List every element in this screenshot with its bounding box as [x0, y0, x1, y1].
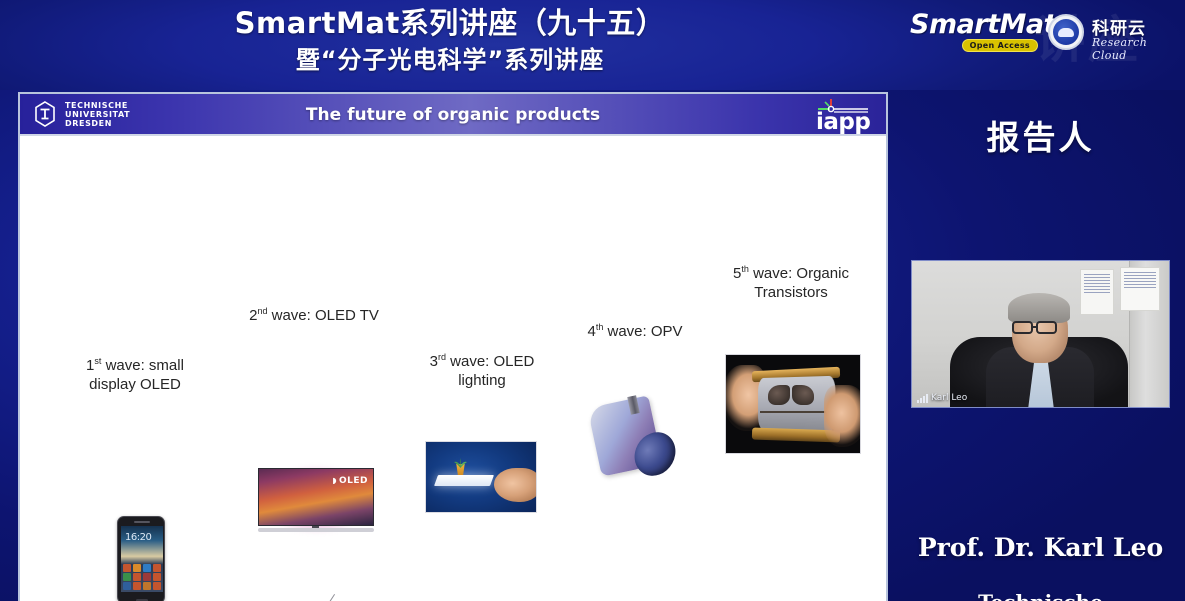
wave-label-3: 3rd wave: OLED lighting	[392, 348, 572, 390]
oled-phone-image: 16:20	[117, 516, 165, 601]
opv-film-image	[588, 393, 684, 485]
banner-title-block: SmartMat系列讲座（九十五） 暨“分子光电科学”系列讲座	[0, 2, 900, 76]
research-cloud-en-label: Research Cloud	[1092, 36, 1176, 62]
iapp-logo: iapp	[816, 97, 872, 133]
wave-3-text-line2: lighting	[458, 372, 506, 389]
signal-bars-icon	[917, 394, 928, 403]
wave-label-5: 5th wave: Organic Transistors	[696, 260, 886, 302]
speaker-panel: 报告人 Karl Leo Prof. Dr. Karl Leo Technisc…	[896, 90, 1185, 601]
smartmat-wordmark: SmartMat	[910, 10, 1040, 40]
wave-label-4: 4th wave: OPV	[550, 318, 720, 341]
wave-5-text-line2: Transistors	[754, 284, 828, 301]
wave-3-ordinal-sup: rd	[438, 352, 446, 362]
glasses-icon	[1012, 321, 1066, 335]
banner-title-primary: SmartMat系列讲座（九十五）	[0, 2, 900, 44]
wave-3-text: wave: OLED	[446, 353, 534, 370]
wave-1-text-line2: display OLED	[89, 376, 181, 393]
event-banner: 讲座 SmartMat系列讲座（九十五） 暨“分子光电科学”系列讲座 Smart…	[0, 0, 1185, 90]
oled-tv-image: OLED	[242, 458, 390, 548]
slide-title: The future of organic products	[20, 94, 886, 136]
iapp-wordmark: iapp	[816, 109, 870, 135]
wave-3-ordinal-num: 3	[430, 353, 438, 370]
slide-header-bar: TECHNISCHE UNIVERSITAT DRESDEN The futur…	[20, 94, 886, 136]
wave-2-text: wave: OLED TV	[267, 307, 378, 324]
wave-label-2: 2nd wave: OLED TV	[216, 302, 412, 325]
speaker-video-thumbnail[interactable]: Karl Leo	[911, 260, 1170, 408]
banner-title-secondary: 暨“分子光电科学”系列讲座	[0, 44, 900, 76]
speaker-panel-heading: 报告人	[896, 111, 1185, 159]
organic-transistor-image	[725, 354, 861, 454]
speaker-name: Prof. Dr. Karl Leo	[896, 533, 1185, 562]
oled-lighting-image	[425, 441, 537, 513]
research-cloud-logo: 科研云 Research Cloud	[1048, 8, 1176, 58]
wave-label-1: 1st wave: small display OLED	[55, 352, 215, 394]
wave-4-text: wave: OPV	[603, 323, 682, 340]
wave-5-text: wave: Organic	[749, 265, 849, 282]
wave-4-ordinal-num: 4	[587, 323, 595, 340]
video-watermark-label: Karl Leo	[931, 393, 967, 403]
wave-5-ordinal-sup: th	[741, 264, 749, 274]
tv-oled-badge: OLED	[332, 476, 368, 486]
phone-clock-text: 16:20	[125, 532, 151, 543]
open-access-badge: Open Access	[962, 39, 1038, 52]
wave-2-ordinal-sup: nd	[257, 306, 267, 316]
cloud-emblem-icon	[1048, 14, 1084, 50]
slide-area: TECHNISCHE UNIVERSITAT DRESDEN The futur…	[18, 92, 888, 601]
slide-content: 1st wave: small display OLED 16:20 2nd w…	[20, 136, 886, 601]
tv-screen: OLED	[258, 468, 374, 526]
stray-annotation-mark: /	[328, 591, 336, 601]
smartmat-logo: SmartMat Open Access	[910, 10, 1040, 58]
video-watermark: Karl Leo	[917, 393, 967, 403]
plant-leaf-icon	[453, 455, 468, 466]
presentation-screen: 讲座 SmartMat系列讲座（九十五） 暨“分子光电科学”系列讲座 Smart…	[0, 0, 1185, 601]
speaker-affiliation-line-1: Technische	[896, 590, 1185, 601]
wave-1-text: wave: small	[101, 357, 184, 374]
